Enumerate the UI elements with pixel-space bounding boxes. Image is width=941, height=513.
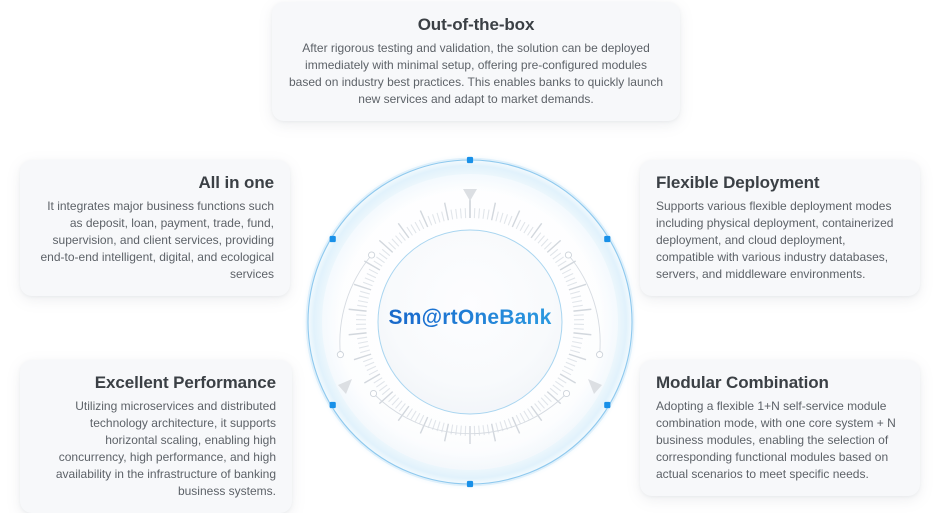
ring-node-top-left (330, 236, 336, 242)
feature-card-body: It integrates major business functions s… (36, 198, 274, 283)
circular-rings-svg (300, 140, 640, 490)
arc-endpoint-w (337, 352, 343, 358)
feature-card-title: Out-of-the-box (288, 14, 664, 35)
feature-card-title: Excellent Performance (36, 372, 276, 393)
feature-card-out-of-the-box[interactable]: Out-of-the-box After rigorous testing an… (272, 2, 680, 121)
ring-node-top-right (604, 236, 610, 242)
ring-node-bottom-right (604, 402, 610, 408)
feature-diagram-stage: Sm@rtOneBank Out-of-the-box After rigoro… (0, 0, 941, 500)
ring-node-bottom (467, 481, 473, 487)
arc-endpoint-ne (565, 252, 571, 258)
ring-node-bottom-left (330, 402, 336, 408)
feature-card-body: Utilizing microservices and distributed … (36, 398, 276, 500)
feature-card-body: After rigorous testing and validation, t… (288, 40, 664, 108)
feature-card-title: Flexible Deployment (656, 172, 904, 193)
central-circular-graphic: Sm@rtOneBank (300, 140, 640, 490)
feature-card-excellent-performance[interactable]: Excellent Performance Utilizing microser… (20, 360, 292, 513)
feature-card-all-in-one[interactable]: All in one It integrates major business … (20, 160, 290, 296)
ring-node-top (467, 157, 473, 163)
inner-disc (378, 230, 562, 414)
arc-endpoint-sw (370, 390, 376, 396)
arc-endpoint-nw (369, 252, 375, 258)
feature-card-body: Supports various flexible deployment mod… (656, 198, 904, 283)
arc-endpoint-se (563, 390, 569, 396)
feature-card-title: Modular Combination (656, 372, 904, 393)
feature-card-title: All in one (36, 172, 274, 193)
arc-endpoint-e (597, 352, 603, 358)
feature-card-flexible-deployment[interactable]: Flexible Deployment Supports various fle… (640, 160, 920, 296)
feature-card-body: Adopting a flexible 1+N self-service mod… (656, 398, 904, 483)
feature-card-modular-combination[interactable]: Modular Combination Adopting a flexible … (640, 360, 920, 496)
